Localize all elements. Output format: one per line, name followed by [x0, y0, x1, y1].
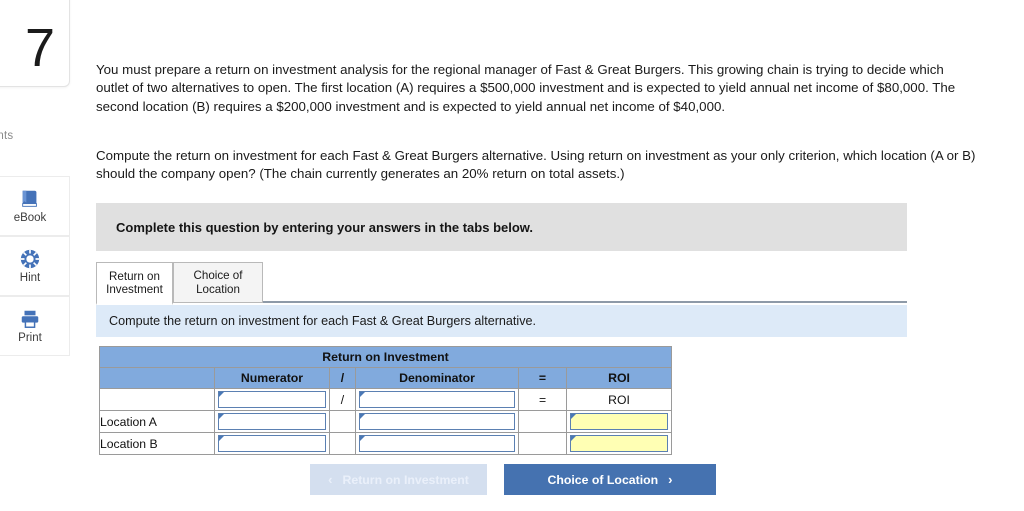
header-denominator: Denominator — [356, 368, 519, 389]
formula-slash: / — [330, 389, 356, 411]
hint-button[interactable]: Hint — [0, 236, 70, 296]
problem-paragraph-2: Compute the return on investment for eac… — [96, 147, 978, 184]
question-number: 7 — [0, 0, 80, 95]
formula-numerator-input[interactable] — [218, 391, 326, 408]
printer-icon — [19, 308, 41, 330]
main-content: You must prepare a return on investment … — [96, 0, 1024, 511]
location-b-denominator-cell[interactable] — [356, 433, 519, 455]
formula-row-label — [100, 389, 215, 411]
table-header-row: Numerator / Denominator = ROI — [100, 368, 672, 389]
location-b-numerator-cell[interactable] — [215, 433, 330, 455]
location-a-denominator-input[interactable] — [359, 413, 515, 430]
points-label: oints — [0, 130, 58, 142]
location-b-denominator-input[interactable] — [359, 435, 515, 452]
tab-strip: Return on Investment Choice of Location — [96, 262, 907, 303]
location-b-roi-cell[interactable] — [567, 433, 672, 455]
row-label-location-b: Location B — [100, 433, 215, 455]
print-button[interactable]: Print — [0, 296, 70, 356]
tab-return-on-investment[interactable]: Return on Investment — [96, 262, 173, 305]
formula-row: / = ROI — [100, 389, 672, 411]
chevron-left-icon: ‹ — [328, 472, 332, 487]
location-a-roi-input[interactable] — [570, 413, 668, 430]
header-blank — [100, 368, 215, 389]
lifebuoy-icon — [19, 248, 41, 270]
header-slash: / — [330, 368, 356, 389]
location-a-roi-cell[interactable] — [567, 411, 672, 433]
row-label-location-a: Location A — [100, 411, 215, 433]
location-b-roi-input[interactable] — [570, 435, 668, 452]
tab-return-on-investment-label: Return on Investment — [101, 270, 168, 297]
book-icon — [19, 188, 41, 210]
location-b-equals-cell — [519, 433, 567, 455]
header-equals: = — [519, 368, 567, 389]
tab-instruction-text: Compute the return on investment for eac… — [109, 314, 536, 328]
instruction-banner-text: Complete this question by entering your … — [116, 220, 533, 235]
instruction-banner: Complete this question by entering your … — [96, 203, 907, 251]
previous-tab-label: Return on Investment — [342, 473, 468, 487]
header-roi: ROI — [567, 368, 672, 389]
table-row: Location A — [100, 411, 672, 433]
header-numerator: Numerator — [215, 368, 330, 389]
location-a-numerator-cell[interactable] — [215, 411, 330, 433]
table-title-row: Return on Investment — [100, 347, 672, 368]
tab-choice-of-location-label: Choice of Location — [178, 269, 258, 296]
location-b-numerator-input[interactable] — [218, 435, 326, 452]
roi-table: Return on Investment Numerator / Denomin… — [99, 346, 672, 455]
tab-choice-of-location[interactable]: Choice of Location — [173, 262, 263, 303]
table-row: Location B — [100, 433, 672, 455]
previous-tab-button[interactable]: ‹ Return on Investment — [310, 464, 487, 495]
next-tab-label: Choice of Location — [547, 473, 658, 487]
location-a-equals-cell — [519, 411, 567, 433]
location-a-slash-cell — [330, 411, 356, 433]
exercise-page: 7 oints eBook Hint — [0, 0, 1024, 511]
location-b-slash-cell — [330, 433, 356, 455]
table-title: Return on Investment — [100, 347, 672, 368]
problem-paragraph-1: You must prepare a return on investment … — [96, 61, 978, 116]
next-tab-button[interactable]: Choice of Location › — [504, 464, 716, 495]
hint-label: Hint — [20, 273, 40, 285]
ebook-label: eBook — [14, 213, 47, 225]
chevron-right-icon: › — [668, 472, 672, 487]
formula-denominator-input[interactable] — [359, 391, 515, 408]
location-a-denominator-cell[interactable] — [356, 411, 519, 433]
tab-instruction-banner: Compute the return on investment for eac… — [96, 305, 907, 337]
location-a-numerator-input[interactable] — [218, 413, 326, 430]
formula-numerator-cell[interactable] — [215, 389, 330, 411]
formula-roi-label: ROI — [567, 389, 672, 411]
formula-denominator-cell[interactable] — [356, 389, 519, 411]
left-toolbar: 7 oints eBook Hint — [0, 0, 70, 511]
formula-equals: = — [519, 389, 567, 411]
print-label: Print — [18, 333, 42, 345]
ebook-button[interactable]: eBook — [0, 176, 70, 236]
